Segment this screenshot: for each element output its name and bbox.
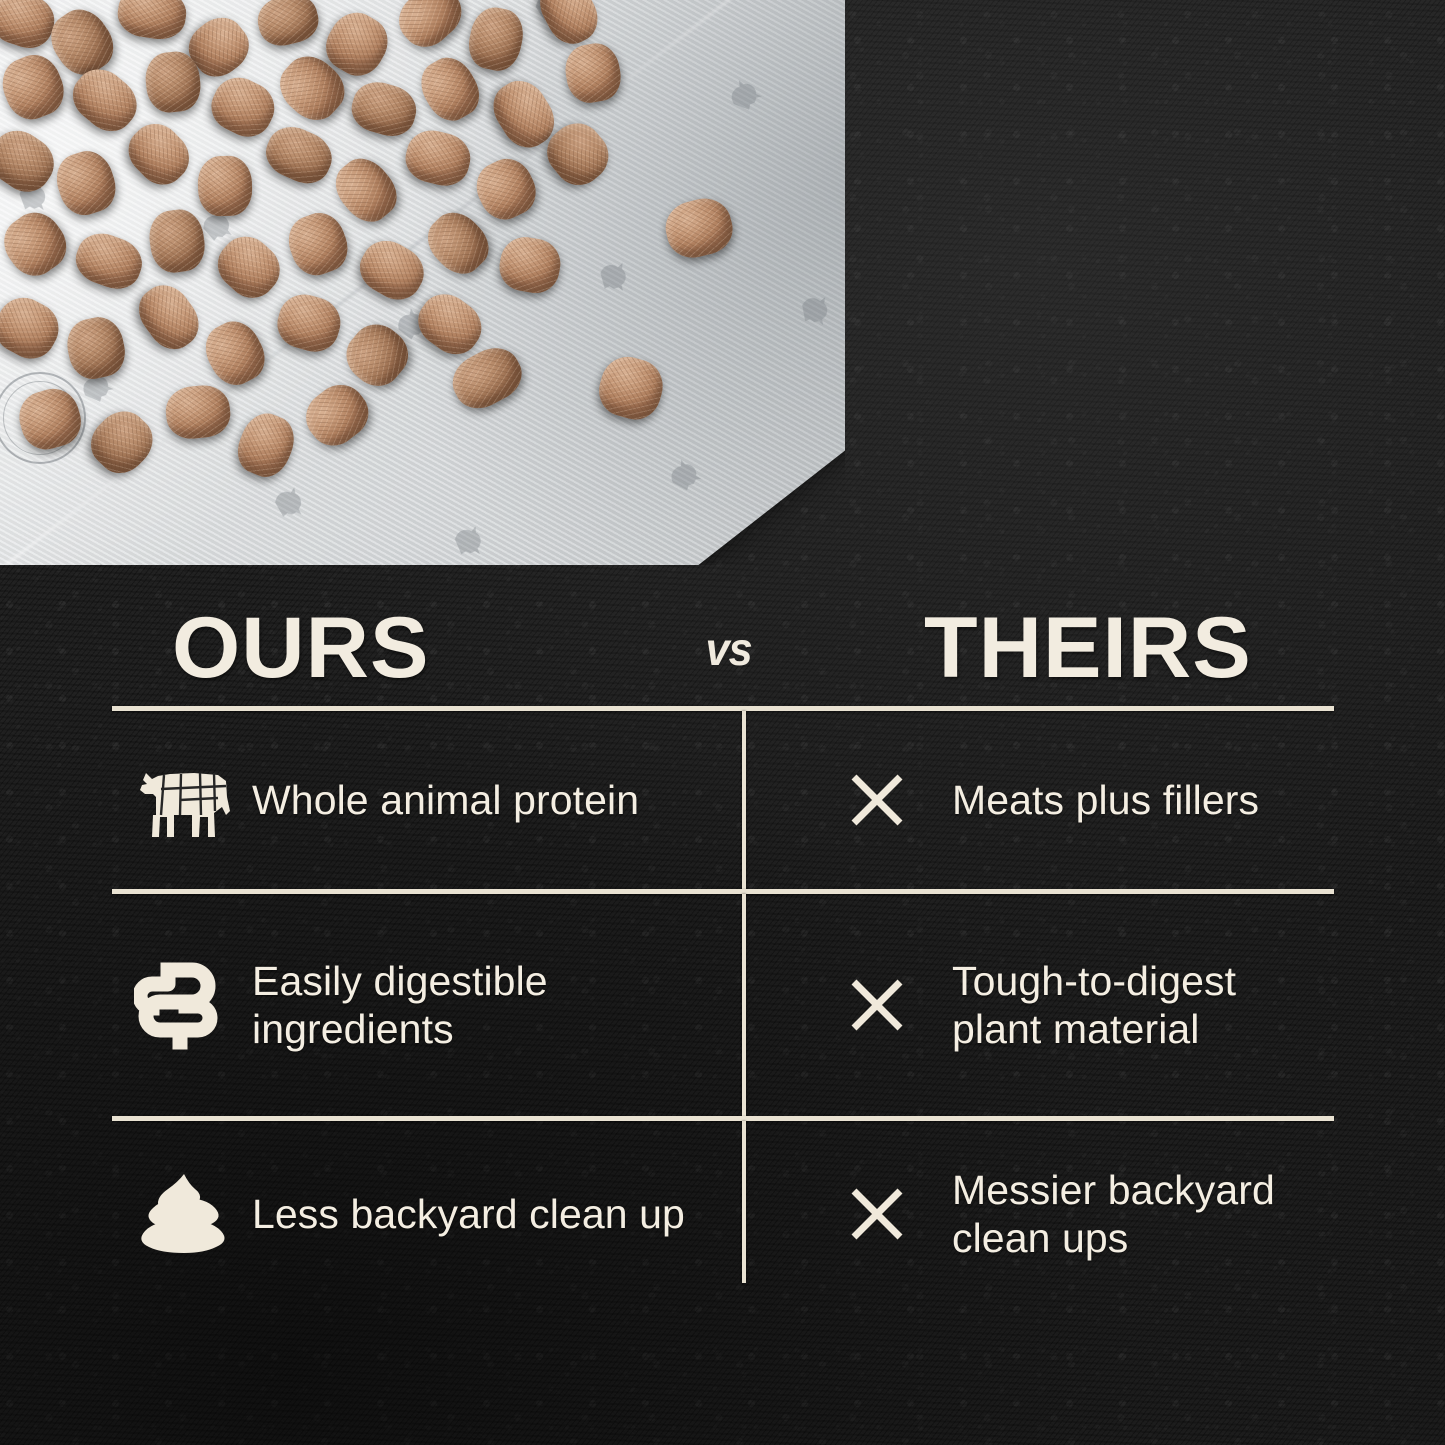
table-row: Easily digestible ingredients Tough-to-d… [112,894,1334,1116]
x-mark-icon [846,769,952,831]
ours-row-label: Whole animal protein [252,776,639,824]
x-mark-icon-svg [846,974,908,1036]
intestine-icon [134,958,252,1052]
x-mark-icon [846,974,952,1036]
ours-cell: Less backyard clean up [112,1121,742,1307]
table-row: Less backyard clean up Messier backyard … [112,1121,1334,1307]
kibble-piece [197,155,253,217]
table-vertical-divider [742,894,746,1116]
product-photo [0,0,845,565]
table-vertical-divider [742,1121,746,1283]
theirs-cell: Messier backyard clean ups [742,1121,1334,1307]
cow-butcher-chart-icon [134,753,252,847]
ours-cell: Easily digestible ingredients [112,894,742,1116]
theirs-row-label: Meats plus fillers [952,776,1259,824]
ours-row-label: Easily digestible ingredients [252,957,742,1054]
theirs-header-label: THEIRS [924,608,1252,690]
ours-header: OURS [172,608,424,690]
ours-header-label: OURS [172,608,430,690]
table-row: Whole animal protein Meats plus fillers [112,711,1334,889]
intestine-icon-svg [134,958,224,1052]
theirs-cell: Tough-to-digest plant material [742,894,1334,1116]
ours-cell: Whole animal protein [112,711,742,889]
vs-label: vs [705,622,751,676]
comparison-table: OURS vs THEIRS [112,580,1334,1307]
x-mark-icon [846,1183,952,1245]
theirs-row-label: Messier backyard clean ups [952,1166,1334,1263]
x-mark-icon-svg [846,1183,908,1245]
theirs-cell: Meats plus fillers [742,711,1334,889]
stool-icon-svg [134,1168,234,1260]
table-headers: OURS vs THEIRS [112,580,1334,706]
infographic-canvas: OURS vs THEIRS [0,0,1445,1445]
table-vertical-divider [742,711,746,889]
x-mark-icon-svg [846,769,908,831]
ours-row-label: Less backyard clean up [252,1190,685,1238]
theirs-header: THEIRS [924,608,1245,690]
stool-icon [134,1168,252,1260]
cow-butcher-chart-icon-svg [134,753,246,847]
theirs-row-label: Tough-to-digest plant material [952,957,1334,1054]
